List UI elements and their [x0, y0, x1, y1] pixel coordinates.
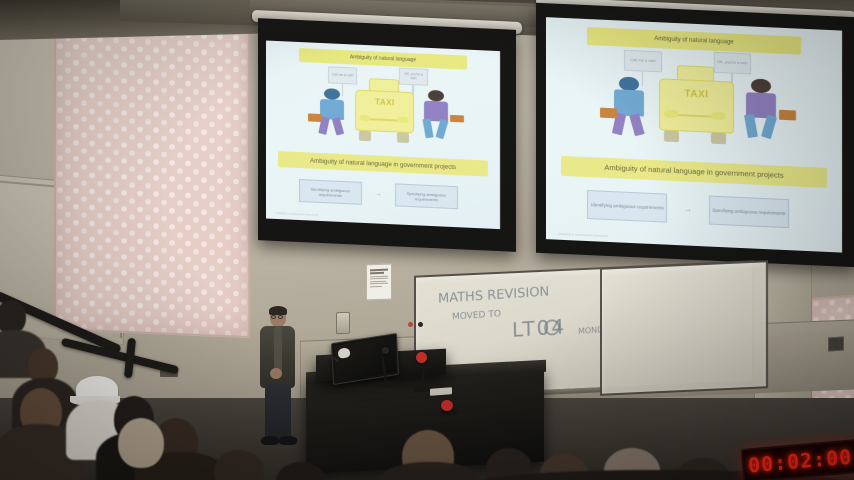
taxi-wheel-right-icon-r	[711, 132, 726, 144]
slide-illustration-right: Call me a cab! OK, you're a cab! TAXI	[570, 45, 819, 163]
taxi-lamp-right-icon-r	[711, 112, 726, 120]
illustration-person-right-bag-r	[779, 110, 796, 120]
slide-box-right-item-r: Specifying ambiguous requirements	[709, 195, 789, 227]
wall-marker-red	[408, 322, 413, 327]
whiteboard-text-line1: MATHS REVISION	[438, 284, 550, 306]
illustration-person-right-leg-2	[436, 119, 449, 139]
slide-illustration-left: Call me a cab! OK, you're a cab! TAXI	[285, 63, 482, 157]
projector-screen-right-frame: Ambiguity of natural language Call me a …	[536, 3, 854, 268]
illustration-person-right-head	[428, 90, 444, 102]
notice-body-line-5	[370, 285, 382, 286]
monitor-screen	[334, 336, 396, 381]
illustration-person-right-leg-r	[744, 114, 758, 139]
presenter-glasses-icon	[271, 315, 276, 319]
presenter-shoe-right	[279, 436, 297, 445]
slide-footer-right: Ambiguity in requirements documents	[558, 231, 721, 242]
presenter-hair	[269, 306, 287, 315]
notice-heading-line	[370, 268, 388, 271]
wall-notice	[366, 264, 392, 301]
taxi-wheel-right-icon	[397, 133, 409, 143]
acoustic-panel-left	[54, 8, 250, 338]
speech-sign-right: OK, you're a cab!	[399, 68, 428, 86]
presenter-glasses-icon-2	[278, 315, 283, 319]
notice-heading-line-2	[370, 272, 384, 274]
slide-right: Ambiguity of natural language Call me a …	[546, 17, 842, 252]
presenter-leg-right	[278, 384, 291, 440]
projector-screen-right-surface: Ambiguity of natural language Call me a …	[546, 17, 842, 252]
audience-head	[0, 300, 26, 334]
speech-sign-left: Call me a cab!	[328, 66, 357, 84]
microphone-head-2	[416, 352, 427, 363]
taxi-lamp-right-icon	[397, 116, 409, 123]
slide-box-left-item-r: Identifying ambiguous requirements	[587, 190, 667, 222]
taxi-wheel-left-icon	[359, 131, 371, 141]
notice-body-line-2	[370, 278, 388, 280]
illustration-person-right-leg	[423, 118, 434, 138]
notice-body-line-4	[370, 283, 388, 285]
illustration-person-left-leg2-r	[629, 113, 644, 136]
slide-arrow-icon-r: →	[673, 204, 703, 214]
slide-box-left-item: Identifying ambiguous requirements	[299, 179, 362, 205]
presenter-shoe-left	[261, 436, 279, 445]
speech-sign-right-r: OK, you're a cab!	[714, 51, 751, 74]
speech-sign-left-pole	[342, 84, 343, 96]
illustration-person-left-leg-2	[332, 117, 344, 135]
microphone-head-1	[382, 347, 389, 354]
illustration-person-right-bag	[450, 115, 464, 123]
presenter	[252, 306, 304, 450]
presenter-leg-left	[265, 384, 278, 440]
illustration-person-left-bag-r	[600, 108, 617, 118]
presenter-hands	[270, 368, 282, 379]
speech-sign-left-pole-r	[642, 72, 643, 87]
slide-box-right-item: Specifying ambiguous requirements	[395, 183, 458, 209]
taxi-wheel-left-icon-r	[664, 130, 679, 142]
slide-arrow-icon: →	[367, 190, 390, 198]
slide-left: Ambiguity of natural language Call me a …	[266, 41, 500, 230]
notice-body-line-3	[370, 280, 386, 282]
slide-footer-left: Ambiguity in requirements documents	[275, 212, 404, 221]
notice-body-line	[370, 275, 388, 277]
illustration-person-left-bag	[308, 113, 322, 121]
illustration-person-right-leg2-r	[761, 115, 777, 140]
projector-screen-left-frame: Ambiguity of natural language Call me a …	[258, 18, 516, 252]
whiteboard-text-line2: MOVED TO	[452, 309, 501, 322]
illustration-person-right-head-r	[751, 79, 771, 94]
speech-sign-left-r: Call me a cab!	[624, 49, 661, 72]
audience-head	[118, 418, 164, 468]
whiteboard-right	[600, 260, 768, 396]
taxi-lamp-left-icon-r	[664, 110, 679, 118]
wall-control-panel[interactable]	[336, 312, 350, 334]
floor-port-plate	[828, 336, 844, 351]
lecture-hall-scene: Ambiguity of natural language Call me a …	[0, 0, 854, 480]
microphone-head-3	[441, 400, 453, 411]
projector-screen-left-surface: Ambiguity of natural language Call me a …	[266, 41, 500, 230]
countdown-timer-value: 00:02:00	[747, 444, 853, 477]
wall-marker-black	[418, 322, 423, 327]
